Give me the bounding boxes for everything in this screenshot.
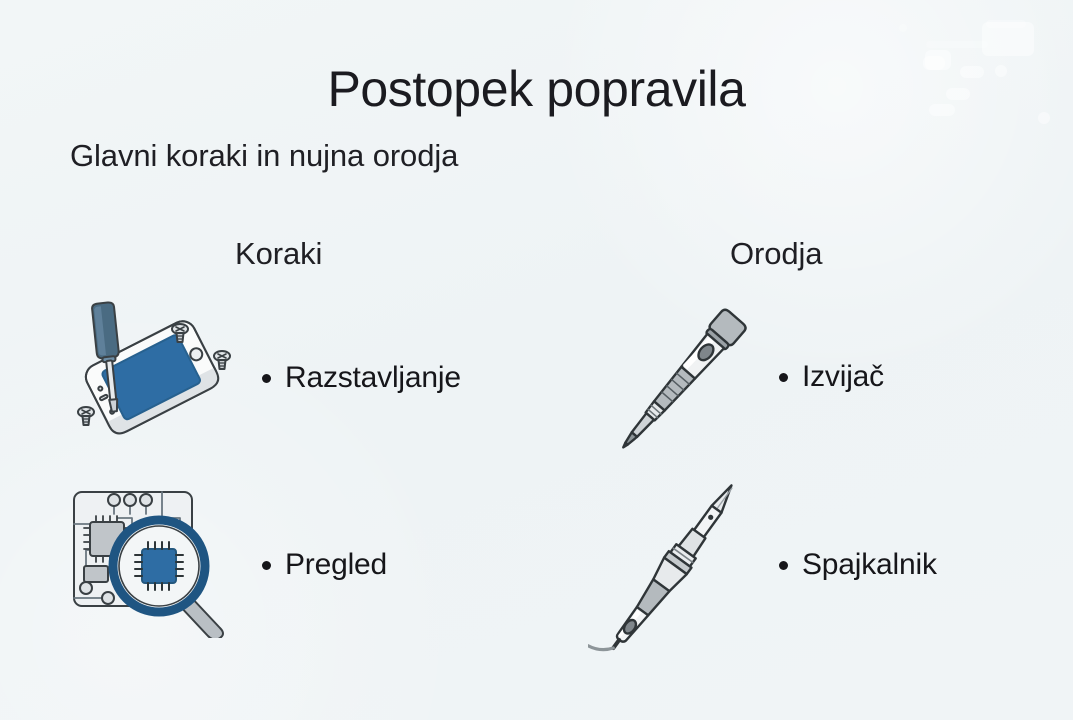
tool-label: Izvijač: [802, 360, 884, 394]
precision-screwdriver-icon: [596, 296, 766, 466]
circuit-board-inspection-icon: [62, 478, 247, 638]
list-item: Pregled: [262, 548, 387, 582]
list-item: Razstavljanje: [262, 361, 461, 395]
soldering-iron-icon: [588, 468, 773, 658]
phone-disassembly-icon: [58, 300, 248, 455]
column-heading-tools: Orodja: [730, 236, 822, 272]
step-label: Pregled: [285, 548, 387, 582]
tool-label: Spajkalnik: [802, 548, 937, 582]
step-label: Razstavljanje: [285, 361, 461, 395]
bullet-icon: [262, 374, 271, 383]
page-title: Postopek popravila: [0, 62, 1073, 117]
bullet-icon: [779, 561, 788, 570]
column-heading-steps: Koraki: [235, 236, 322, 272]
list-item: Spajkalnik: [779, 548, 937, 582]
background-fleck: [986, 20, 1026, 28]
slide-canvas: Postopek popravila Glavni koraki in nujn…: [0, 0, 1073, 720]
bullet-icon: [262, 561, 271, 570]
background-fleck: [926, 41, 988, 48]
list-item: Izvijač: [779, 360, 884, 394]
background-fleck: [982, 22, 1034, 56]
background-fleck: [899, 24, 907, 32]
bullet-icon: [779, 373, 788, 382]
page-subtitle: Glavni koraki in nujna orodja: [70, 138, 458, 174]
